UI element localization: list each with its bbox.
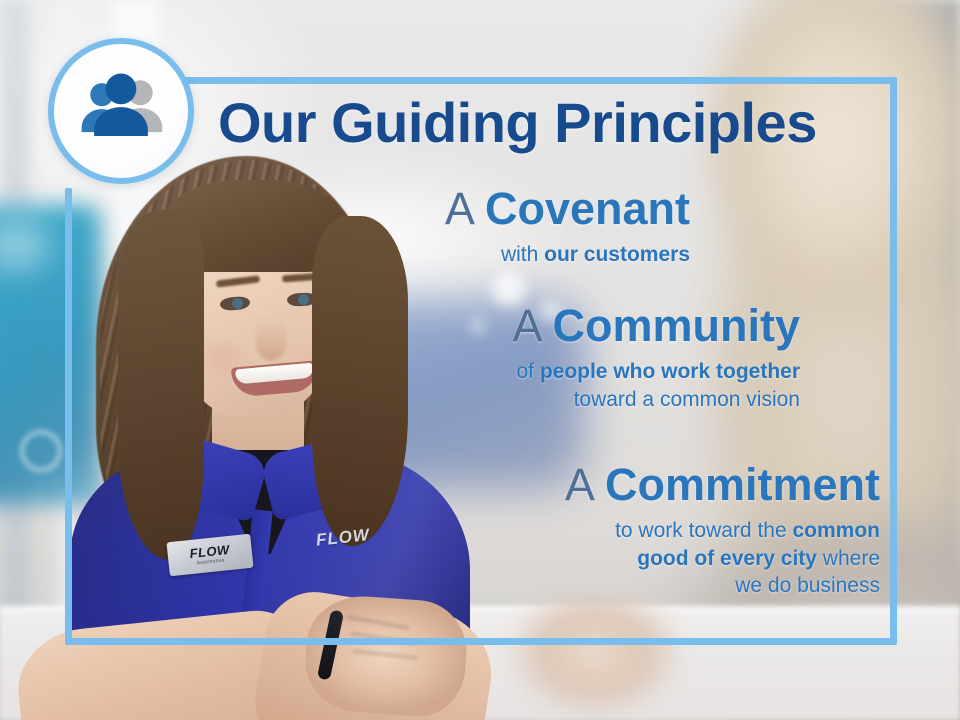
subtext-line: of people who work together <box>200 358 800 386</box>
principle-subtext: of people who work togethertoward a comm… <box>200 358 800 413</box>
principle-heading: A Covenant <box>160 186 690 232</box>
page-title: Our Guiding Principles <box>218 95 817 151</box>
principle-article: A <box>565 459 593 510</box>
subtext-line: with our customers <box>160 241 690 269</box>
text-content: Our Guiding Principles A Covenant with o… <box>0 0 960 720</box>
principle-heading: A Community <box>200 303 800 349</box>
principle-subtext: to work toward the commongood of every c… <box>250 517 880 600</box>
principle-commitment: A Commitment to work toward the commongo… <box>250 462 880 600</box>
principle-word: Covenant <box>485 183 690 234</box>
principle-word: Commitment <box>605 459 880 510</box>
principle-subtext: with our customers <box>160 241 690 269</box>
principle-article: A <box>512 300 540 351</box>
subtext-line: to work toward the common <box>250 517 880 545</box>
principle-covenant: A Covenant with our customers <box>160 186 690 269</box>
subtext-line: toward a common vision <box>200 386 800 414</box>
principle-word: Community <box>553 300 801 351</box>
principle-article: A <box>445 183 473 234</box>
principle-community: A Community of people who work togethert… <box>200 303 800 413</box>
subtext-line: good of every city where <box>250 545 880 573</box>
guiding-principles-graphic: FLOW Automotive FLOW Our Guiding Prin <box>0 0 960 720</box>
principle-heading: A Commitment <box>250 462 880 508</box>
subtext-line: we do business <box>250 572 880 600</box>
